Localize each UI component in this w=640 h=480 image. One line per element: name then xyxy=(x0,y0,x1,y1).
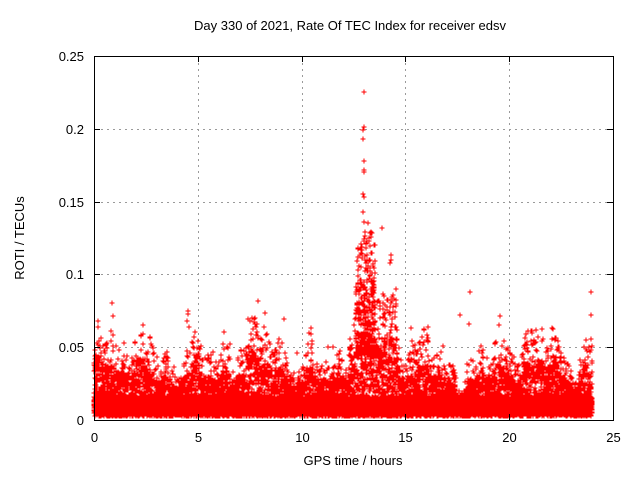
x-axis-tick-label: 5 xyxy=(195,430,202,445)
y-axis-tick-label: 0.05 xyxy=(59,340,84,355)
scatter-plot-canvas: Day 330 of 2021, Rate Of TEC Index for r… xyxy=(0,0,640,480)
x-axis-tick-label: 15 xyxy=(398,430,412,445)
y-axis-label: ROTI / TECUs xyxy=(12,196,27,280)
x-axis-tick-label: 10 xyxy=(295,430,309,445)
y-axis-tick-label: 0.15 xyxy=(59,195,84,210)
roti-chart-figure: Day 330 of 2021, Rate Of TEC Index for r… xyxy=(0,0,640,480)
y-axis-tick-label: 0.2 xyxy=(66,122,84,137)
x-axis-tick-label: 20 xyxy=(502,430,516,445)
y-axis-tick-label: 0.1 xyxy=(66,267,84,282)
y-axis-label-group: ROTI / TECUs xyxy=(12,196,27,280)
y-axis-tick-label: 0 xyxy=(77,413,84,428)
y-axis-tick-label: 0.25 xyxy=(59,49,84,64)
x-axis-tick-label: 0 xyxy=(91,430,98,445)
x-axis-label: GPS time / hours xyxy=(304,453,403,468)
chart-title: Day 330 of 2021, Rate Of TEC Index for r… xyxy=(194,18,506,33)
x-axis-tick-label: 25 xyxy=(606,430,620,445)
